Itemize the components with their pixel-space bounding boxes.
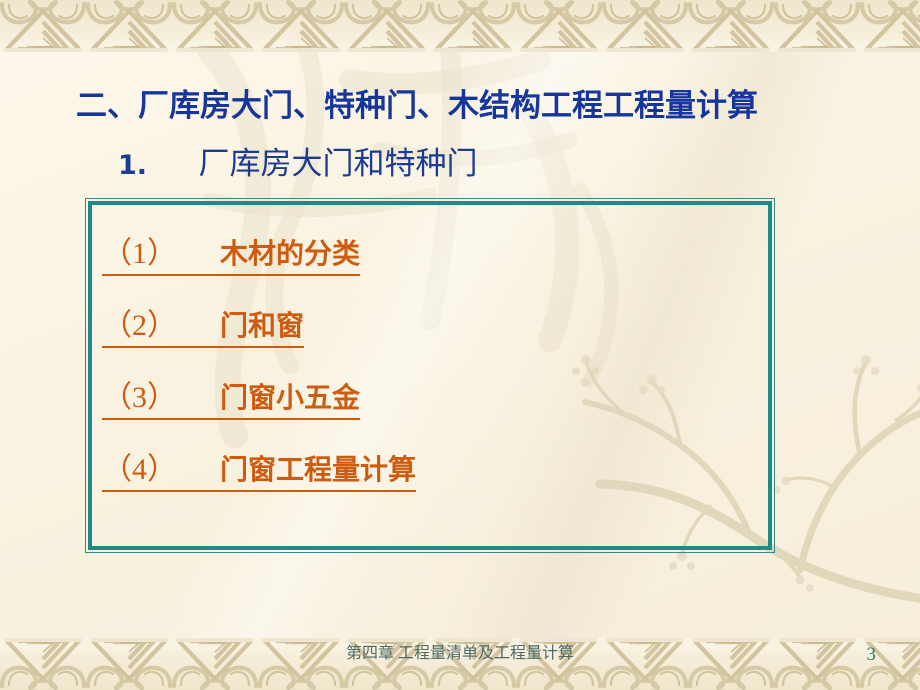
list-item-marker: （4） (102, 453, 177, 486)
list-item-underline: （3） 门窗小五金 (102, 383, 360, 420)
page-number: 3 (867, 644, 877, 666)
list-item-marker: （3） (102, 381, 177, 414)
subtitle-label: 厂库房大门和特种门 (199, 146, 478, 181)
list-item-label: 门窗小五金 (220, 381, 360, 414)
list-item[interactable]: （3） 门窗小五金 (102, 383, 742, 420)
list-item[interactable]: （4） 门窗工程量计算 (102, 455, 742, 492)
content-frame: （1） 木材的分类 （2） 门和窗 （3） (85, 198, 775, 553)
list-item-label: 门窗工程量计算 (220, 453, 416, 486)
list-item-underline: （1） 木材的分类 (102, 239, 360, 276)
page-title: 二、厂库房大门、特种门、木结构工程工程量计算 (76, 84, 906, 128)
list-item-underline: （4） 门窗工程量计算 (102, 455, 416, 492)
list-item[interactable]: （2） 门和窗 (102, 311, 742, 348)
list-item-label: 木材的分类 (220, 237, 360, 270)
slide-canvas: 二、厂库房大门、特种门、木结构工程工程量计算 1. 厂库房大门和特种门 （1） … (0, 0, 920, 690)
content-frame-inner: （1） 木材的分类 （2） 门和窗 （3） (88, 201, 772, 550)
list-item-marker: （1） (102, 237, 177, 270)
list-item-underline: （2） 门和窗 (102, 311, 304, 348)
hyperlink-list: （1） 木材的分类 （2） 门和窗 （3） (102, 239, 742, 527)
list-item-label: 门和窗 (220, 309, 304, 342)
list-item-marker: （2） (102, 309, 177, 342)
list-item[interactable]: （1） 木材的分类 (102, 239, 742, 276)
subtitle-number: 1. (118, 150, 147, 181)
page-subtitle: 1. 厂库房大门和特种门 (118, 142, 818, 188)
